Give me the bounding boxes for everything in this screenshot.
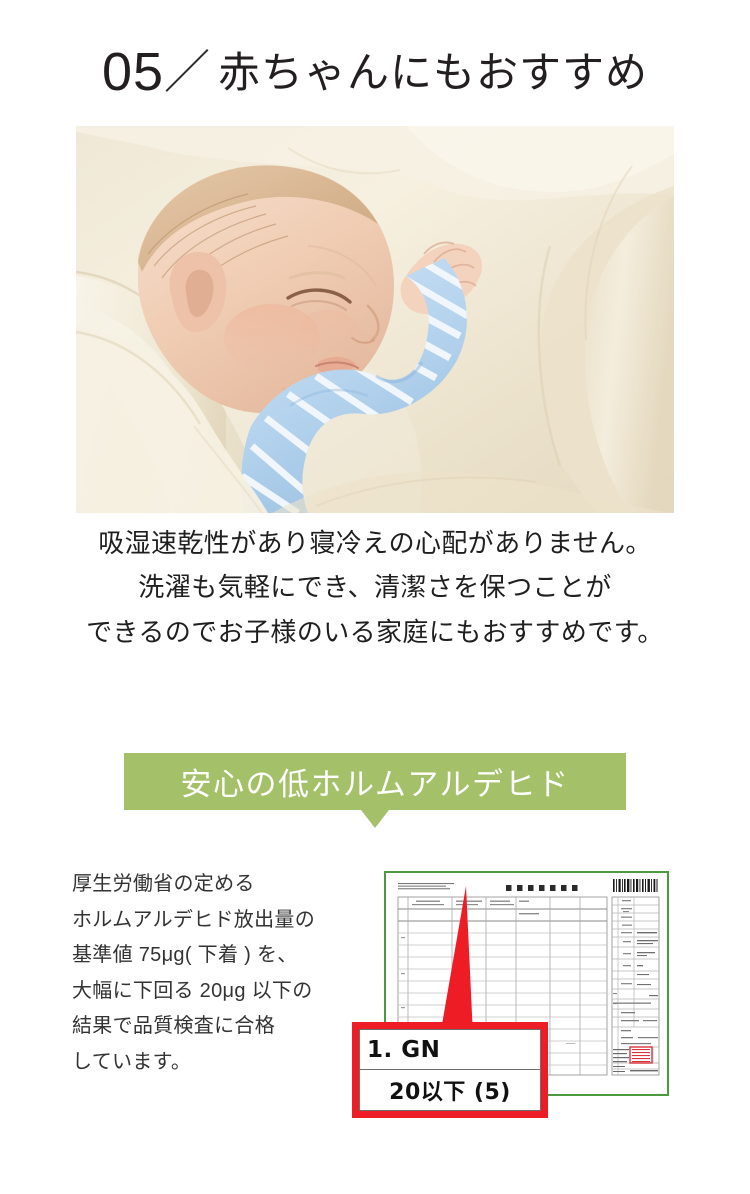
callout-row-value: 20以下 (5) [359,1070,541,1111]
section-number: 05 [102,42,164,102]
lead-copy: 吸湿速乾性があり寝冷えの心配がありません。 洗濯も気軽にでき、清潔さを保つことが… [0,527,750,660]
note-line-5: 結果で品質検査に合格 [72,1014,362,1040]
section-title-text: 赤ちゃんにもおすすめ [218,49,648,96]
note-line-6: しています。 [72,1050,362,1076]
lead-line-3: できるのでお子様のいる家庭にもおすすめです。 [0,616,750,649]
lead-line-2: 洗濯も気軽にでき、清潔さを保つことが [0,571,750,604]
formaldehyde-note: 厚生労働省の定める ホルムアルデヒド放出量の 基準値 75μg( 下着 ) を、… [72,872,362,1086]
note-line-4: 大幅に下回る 20μg 以下の [72,979,362,1005]
banner-arrow-tail [361,810,389,828]
sleeping-baby-photo [76,126,674,513]
page-title: 05／赤ちゃんにもおすすめ [0,36,750,103]
test-result-callout: 1. GN 20以下 (5) [352,1022,548,1118]
low-formaldehyde-banner: 安心の低ホルムアルデヒド [124,753,626,810]
banner-body: 安心の低ホルムアルデヒド [124,753,626,810]
callout-row-value-text: 20以下 (5) [389,1074,511,1106]
title-separator: ／ [164,46,210,98]
note-line-2: ホルムアルデヒド放出量の [72,908,362,934]
callout-row-label: 1. GN [359,1029,541,1070]
lead-line-1: 吸湿速乾性があり寝冷えの心配がありません。 [0,527,750,560]
note-line-3: 基準値 75μg( 下着 ) を、 [72,943,362,969]
note-line-1: 厚生労働省の定める [72,872,362,898]
banner-label: 安心の低ホルムアルデヒド [180,759,569,804]
callout-row-label-text: 1. GN [367,1037,440,1063]
